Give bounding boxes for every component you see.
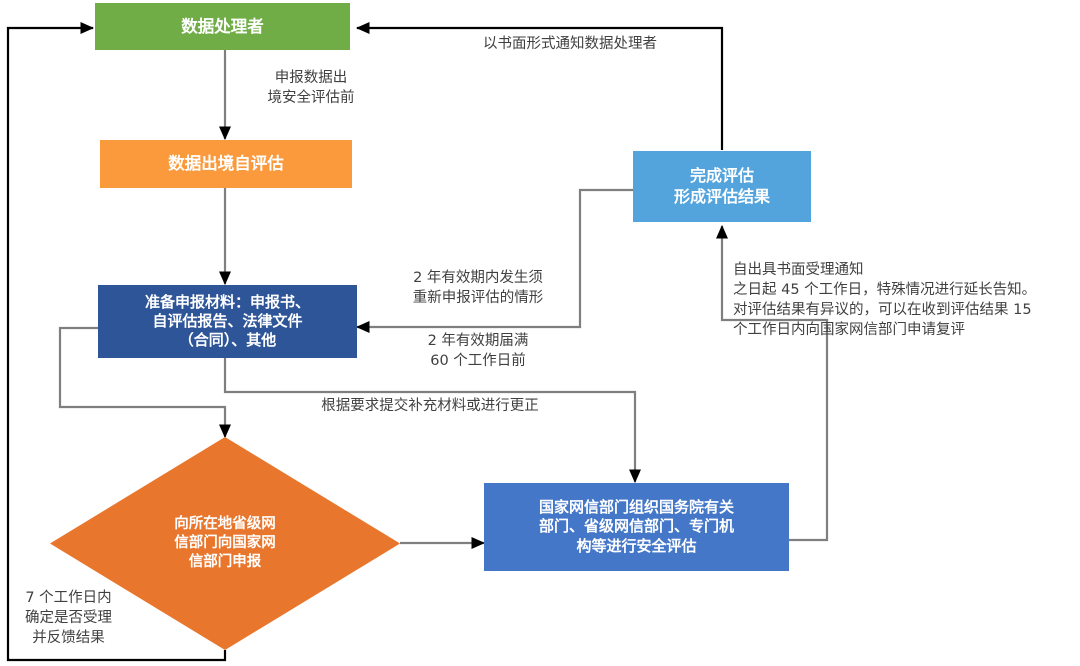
- edge-label-assess-forty-five-days: 自出具书面受理通知 之日起 45 个工作日，特殊情况进行延长告知。 对评估结果有…: [733, 260, 1078, 340]
- node-national-cyberspace-dept[interactable]: 国家网信部门组织国务院有关 部门、省级网信部门、专门机 构等进行安全评估: [484, 483, 789, 571]
- node-self-assessment-label: 数据出境自评估: [168, 153, 284, 174]
- edge-label-before-declare: 申报数据出 境安全评估前: [236, 68, 386, 108]
- node-data-processor-label: 数据处理者: [181, 16, 264, 37]
- edge-label-supplement-materials: 根据要求提交补充材料或进行更正: [285, 396, 575, 416]
- node-assessment-completed[interactable]: 完成评估 形成评估结果: [633, 151, 811, 222]
- edge-label-accept-seven-days: 7 个工作日内 确定是否受理 并反馈结果: [6, 588, 131, 648]
- node-self-assessment[interactable]: 数据出境自评估: [100, 140, 352, 188]
- node-prepare-materials-label: 准备申报材料：申报书、 自评估报告、法律文件 （合同）、其他: [145, 293, 310, 351]
- node-prepare-materials[interactable]: 准备申报材料：申报书、 自评估报告、法律文件 （合同）、其他: [98, 285, 357, 358]
- edge-label-expire-sixty-days: 2 年有效期届满 60 个工作日前: [378, 331, 578, 371]
- flowchart-canvas: 数据处理者 数据出境自评估 准备申报材料：申报书、 自评估报告、法律文件 （合同…: [0, 0, 1080, 666]
- node-assessment-completed-label: 完成评估 形成评估结果: [674, 166, 770, 207]
- edge-label-written-notice: 以书面形式通知数据处理者: [440, 34, 700, 54]
- edge-label-redeclare-within-two-years: 2 年有效期内发生须 重新申报评估的情形: [378, 268, 578, 308]
- node-data-processor[interactable]: 数据处理者: [95, 3, 350, 50]
- node-national-cyberspace-dept-label: 国家网信部门组织国务院有关 部门、省级网信部门、专门机 构等进行安全评估: [539, 498, 734, 556]
